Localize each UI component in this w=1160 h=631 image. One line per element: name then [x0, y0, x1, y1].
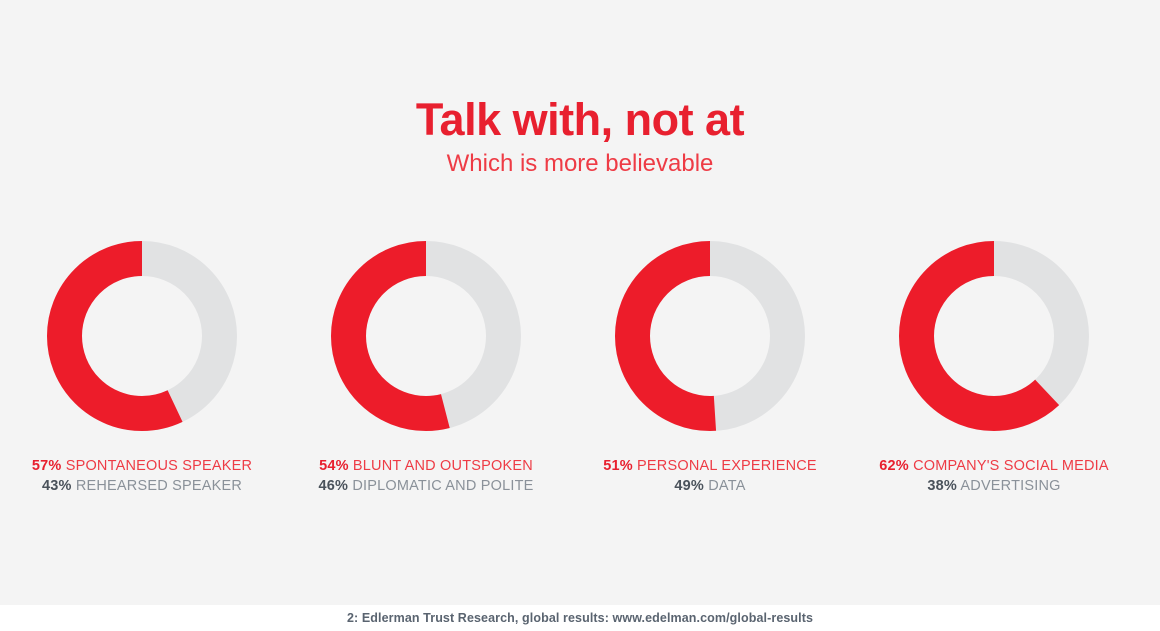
donut-chart-row: 57% SPONTANEOUS SPEAKER43% REHEARSED SPE… [0, 241, 1160, 501]
legend-label: ADVERTISING [957, 478, 1061, 494]
legend-percent: 46% [318, 478, 348, 494]
donut-legend-experience-vs-data: 51% PERSONAL EXPERIENCE49% DATA [603, 456, 817, 496]
donut-legend-spontaneous-vs-rehearsed: 57% SPONTANEOUS SPEAKER43% REHEARSED SPE… [32, 456, 252, 496]
legend-item: 54% BLUNT AND OUTSPOKEN [318, 456, 533, 476]
donut-group-experience-vs-data: 51% PERSONAL EXPERIENCE49% DATA [568, 241, 852, 501]
legend-percent: 49% [674, 478, 704, 494]
page-title: Talk with, not at [0, 96, 1160, 143]
donut-group-blunt-vs-diplomatic: 54% BLUNT AND OUTSPOKEN46% DIPLOMATIC AN… [284, 241, 568, 501]
donut-chart-experience-vs-data [615, 241, 805, 431]
legend-label: COMPANY'S SOCIAL MEDIA [909, 458, 1109, 474]
legend-label: BLUNT AND OUTSPOKEN [349, 458, 533, 474]
donut-chart-spontaneous-vs-rehearsed [47, 241, 237, 431]
donut-group-social-vs-advertising: 62% COMPANY'S SOCIAL MEDIA38% ADVERTISIN… [852, 241, 1136, 501]
legend-item: 51% PERSONAL EXPERIENCE [603, 456, 817, 476]
legend-percent: 57% [32, 458, 62, 474]
legend-label: SPONTANEOUS SPEAKER [61, 458, 252, 474]
donut-chart-blunt-vs-diplomatic [331, 241, 521, 431]
legend-percent: 43% [42, 478, 72, 494]
legend-item: 38% ADVERTISING [879, 476, 1109, 496]
slide: Talk with, not at Which is more believab… [0, 0, 1160, 631]
legend-label: DIPLOMATIC AND POLITE [348, 478, 533, 494]
legend-item: 62% COMPANY'S SOCIAL MEDIA [879, 456, 1109, 476]
legend-label: DATA [704, 478, 746, 494]
legend-percent: 51% [603, 458, 633, 474]
legend-label: PERSONAL EXPERIENCE [633, 458, 817, 474]
legend-label: REHEARSED SPEAKER [72, 478, 242, 494]
page-subtitle: Which is more believable [0, 151, 1160, 177]
source-footnote: 2: Edlerman Trust Research, global resul… [347, 611, 813, 625]
heading-block: Talk with, not at Which is more believab… [0, 96, 1160, 178]
legend-item: 57% SPONTANEOUS SPEAKER [32, 456, 252, 476]
footer-bar: 2: Edlerman Trust Research, global resul… [0, 605, 1160, 631]
legend-item: 49% DATA [603, 476, 817, 496]
legend-item: 46% DIPLOMATIC AND POLITE [318, 476, 533, 496]
legend-item: 43% REHEARSED SPEAKER [32, 476, 252, 496]
legend-percent: 54% [319, 458, 349, 474]
donut-group-spontaneous-vs-rehearsed: 57% SPONTANEOUS SPEAKER43% REHEARSED SPE… [0, 241, 284, 501]
legend-percent: 38% [927, 478, 957, 494]
donut-legend-social-vs-advertising: 62% COMPANY'S SOCIAL MEDIA38% ADVERTISIN… [879, 456, 1109, 496]
legend-percent: 62% [879, 458, 909, 474]
donut-legend-blunt-vs-diplomatic: 54% BLUNT AND OUTSPOKEN46% DIPLOMATIC AN… [318, 456, 533, 496]
donut-chart-social-vs-advertising [899, 241, 1089, 431]
